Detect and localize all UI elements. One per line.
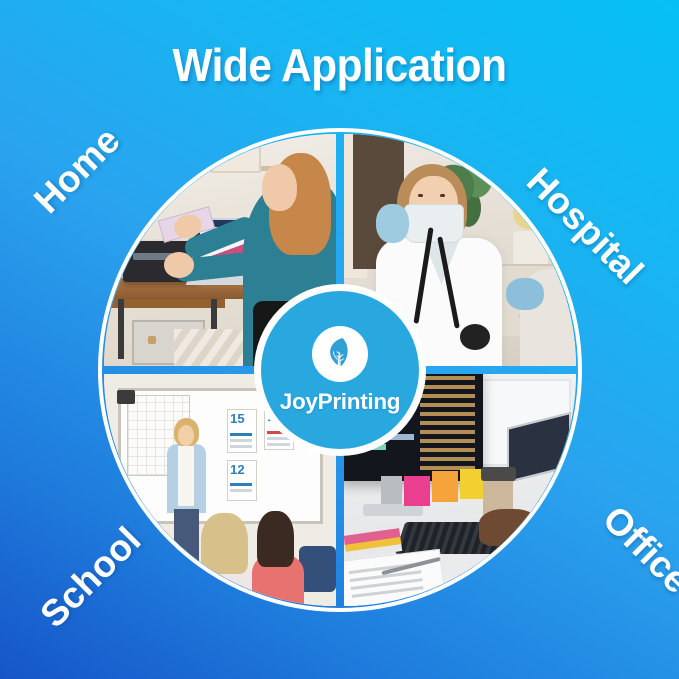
two-leaves-icon bbox=[312, 326, 368, 382]
school-poster-12-number: 12 bbox=[230, 462, 244, 477]
school-poster-15-lines bbox=[230, 433, 252, 436]
application-wheel: 15 19 12 bbox=[98, 128, 582, 612]
brand-name: JoyPrinting bbox=[280, 389, 400, 415]
office-code-sidebar bbox=[420, 376, 475, 474]
brand-logo[interactable]: JoyPrinting bbox=[261, 291, 419, 449]
home-person-face bbox=[262, 164, 297, 210]
school-student-1-hair bbox=[201, 513, 247, 573]
office-sticky-note-orange bbox=[432, 471, 458, 501]
office-sticky-note-pink bbox=[404, 476, 430, 506]
quadrant-label-office: Office bbox=[594, 498, 679, 602]
home-desk-leg-left bbox=[118, 299, 124, 359]
hospital-flowers bbox=[502, 190, 558, 236]
page-title: Wide Application bbox=[27, 38, 652, 92]
school-poster-15-number: 15 bbox=[230, 411, 244, 426]
stethoscope-chestpiece bbox=[460, 324, 490, 350]
school-poster-15: 15 bbox=[227, 409, 257, 453]
hospital-glove-left bbox=[376, 204, 408, 243]
hospital-face-mask bbox=[404, 204, 464, 243]
school-poster-12-lines bbox=[230, 483, 252, 486]
office-coffee-lid bbox=[481, 467, 516, 481]
school-student-2-hair bbox=[257, 511, 294, 567]
office-highlighters bbox=[344, 528, 400, 545]
hospital-glove-right bbox=[506, 278, 543, 310]
school-poster-12: 12 bbox=[227, 460, 257, 501]
school-teacher-top bbox=[178, 446, 194, 506]
office-hands bbox=[479, 509, 539, 546]
school-chair bbox=[299, 546, 336, 592]
home-wall-frame bbox=[211, 143, 261, 173]
school-speaker bbox=[117, 390, 135, 404]
school-teacher-jeans bbox=[174, 509, 200, 569]
wide-application-poster: Wide Application Home Hospital School Of… bbox=[0, 0, 679, 679]
